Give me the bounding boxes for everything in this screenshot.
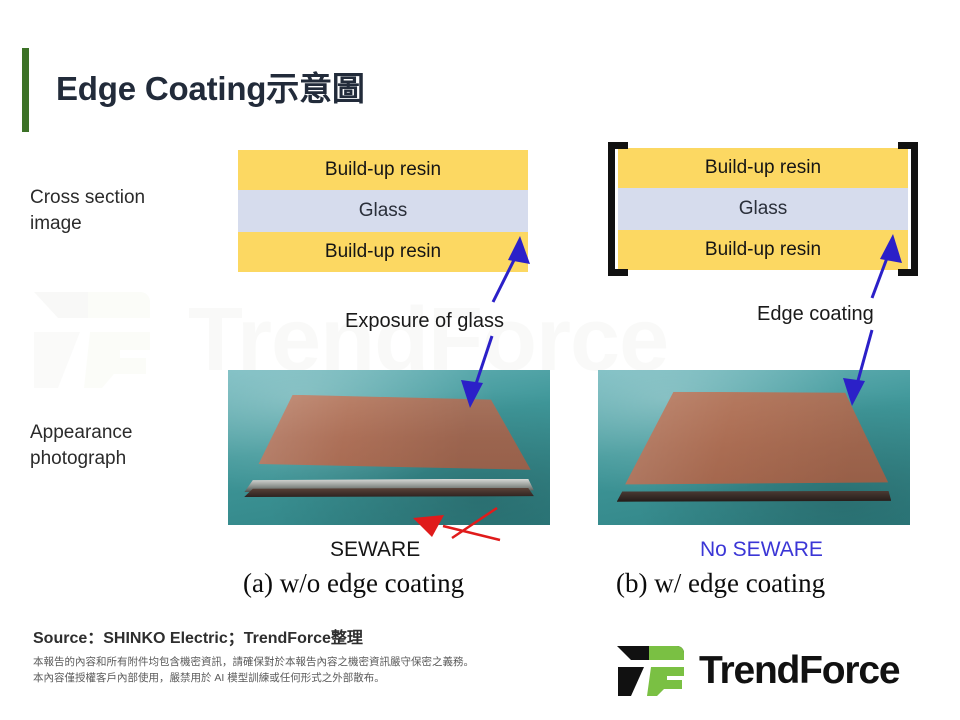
caption-panel-a: (a) w/o edge coating	[243, 568, 464, 599]
photo-note-seware: SEWARE	[330, 538, 420, 562]
cross-section-stack-b: Build-up resin Glass Build-up resin	[618, 148, 908, 270]
trendforce-logo-text: TrendForce	[699, 646, 899, 696]
trendforce-logo: TrendForce	[615, 645, 931, 697]
row-label-appearance-line2: photograph	[30, 446, 132, 472]
panel-board-b-sealed-edge	[617, 491, 892, 502]
layer-buildup-resin-top-a: Build-up resin	[238, 150, 528, 190]
layer-buildup-resin-bottom-b: Build-up resin	[618, 230, 908, 270]
disclaimer-line-1: 本報告的內容和所有附件均包含機密資訊，請確保對於本報告內容之機密資訊嚴守保密之義…	[33, 654, 474, 670]
row-label-cross-section-line1: Cross section	[30, 185, 145, 211]
row-label-appearance-line1: Appearance	[30, 420, 132, 446]
disclaimer-text: 本報告的內容和所有附件均包含機密資訊，請確保對於本報告內容之機密資訊嚴守保密之義…	[33, 654, 474, 686]
appearance-photo-b	[598, 370, 910, 525]
figure-body: Cross section image Appearance photograp…	[0, 140, 960, 610]
layer-glass-b: Glass	[618, 188, 908, 230]
photo-note-no-seware: No SEWARE	[700, 538, 823, 562]
caption-panel-b: (b) w/ edge coating	[616, 568, 825, 599]
callout-edge-coating: Edge coating	[757, 303, 874, 326]
trendforce-logo-mark	[615, 645, 691, 697]
page-title: Edge Coating示意圖	[56, 62, 365, 110]
callout-exposure-of-glass: Exposure of glass	[345, 310, 504, 333]
layer-buildup-resin-top-b: Build-up resin	[618, 148, 908, 188]
row-label-appearance: Appearance photograph	[30, 420, 132, 472]
source-line: Source：SHINKO Electric；TrendForce整理	[33, 624, 363, 648]
layer-buildup-resin-bottom-a: Build-up resin	[238, 232, 528, 272]
disclaimer-line-2: 本內容僅授權客戶內部使用，嚴禁用於 AI 模型訓練或任何形式之外部散布。	[33, 670, 474, 686]
appearance-photo-a	[228, 370, 550, 525]
title-accent-bar	[22, 48, 29, 132]
row-label-cross-section-line2: image	[30, 211, 145, 237]
layer-glass-a: Glass	[238, 190, 528, 232]
panel-board-a-edge	[244, 488, 534, 497]
edge-coating-bracket-left	[608, 142, 628, 276]
edge-coating-bracket-right	[898, 142, 918, 276]
cross-section-stack-a: Build-up resin Glass Build-up resin	[238, 150, 528, 272]
row-label-cross-section: Cross section image	[30, 185, 145, 237]
